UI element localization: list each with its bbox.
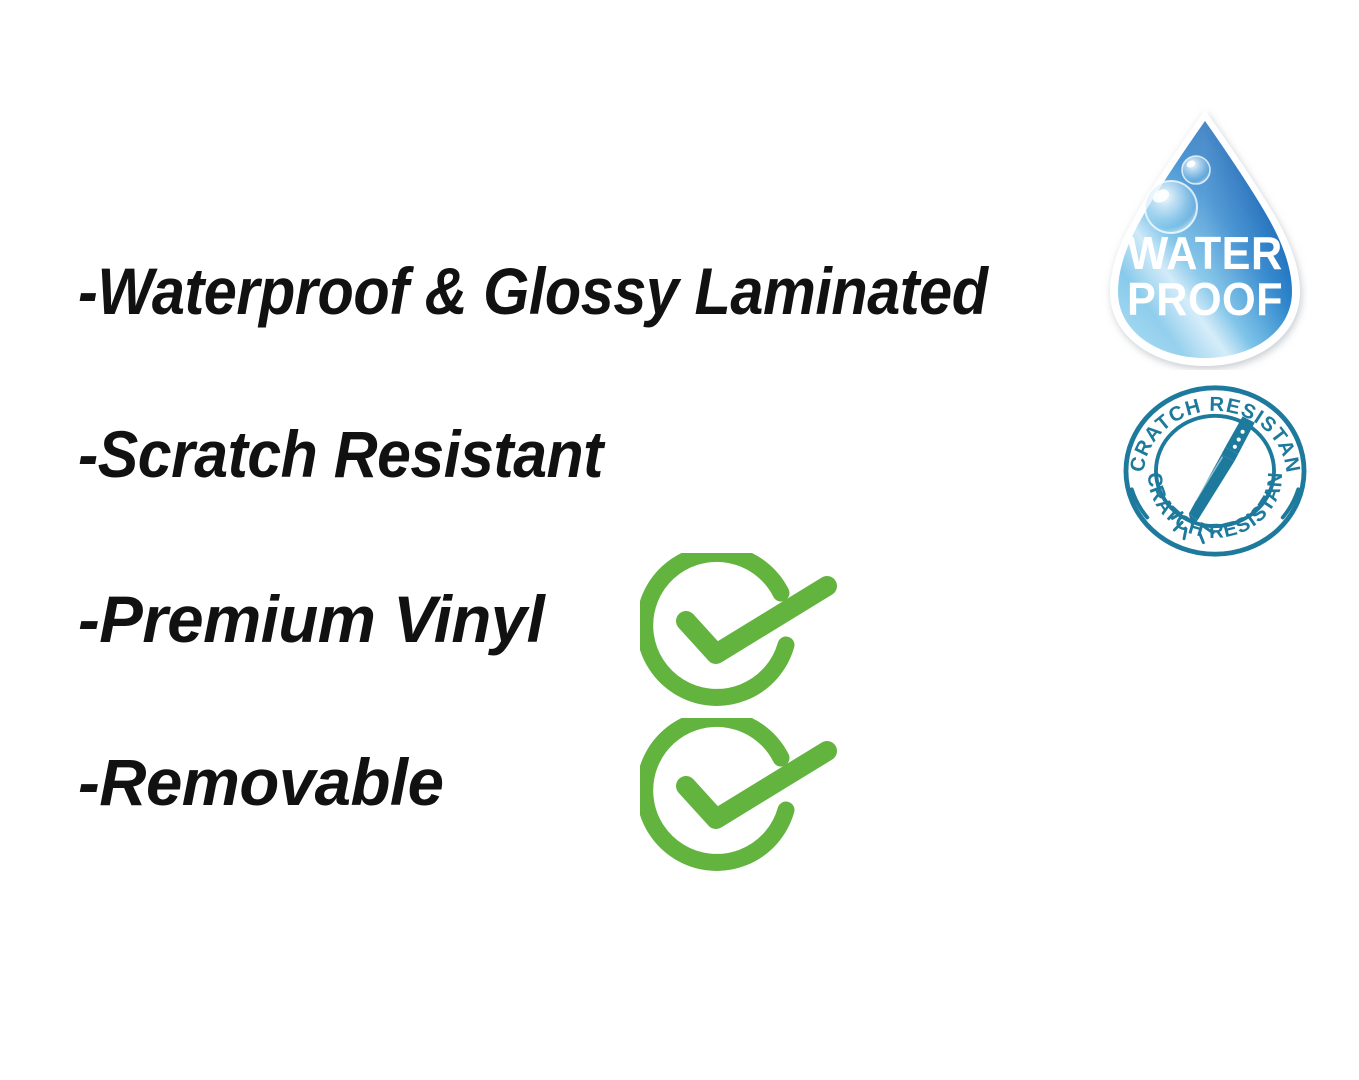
waterproof-line2: PROOF [1127,275,1283,325]
waterproof-droplet-badge: WATER PROOF [1102,104,1308,370]
feature-label: -Waterproof & Glossy Laminated [78,258,988,324]
feature-item-removable: -Removable [78,749,447,815]
scratch-resistant-stamp-badge: SCRATCH RESISTANT SCRATCH RESISTANT [1118,381,1312,561]
feature-item-waterproof-glossy-laminated: -Waterproof & Glossy Laminated [78,258,1089,324]
check-tick [686,586,827,654]
feature-label: -Removable [78,749,443,815]
feature-label: -Premium Vinyl [78,586,544,652]
green-check-circle-premium-vinyl [640,553,840,713]
bubble-icon-small [1182,156,1210,184]
check-tick [686,751,827,819]
stamp-top-text: SCRATCH RESISTANT [1118,381,1304,475]
feature-list: -Waterproof & Glossy Laminated -Scratch … [0,0,1100,1080]
product-feature-graphic: -Waterproof & Glossy Laminated -Scratch … [0,0,1359,1080]
feature-label: -Scratch Resistant [78,421,603,487]
green-check-circle-removable [640,718,840,878]
bubble-icon-large [1145,181,1197,233]
feature-item-premium-vinyl: -Premium Vinyl [78,586,549,652]
waterproof-line1: WATER [1127,229,1282,279]
feature-item-scratch-resistant: -Scratch Resistant [78,421,649,487]
